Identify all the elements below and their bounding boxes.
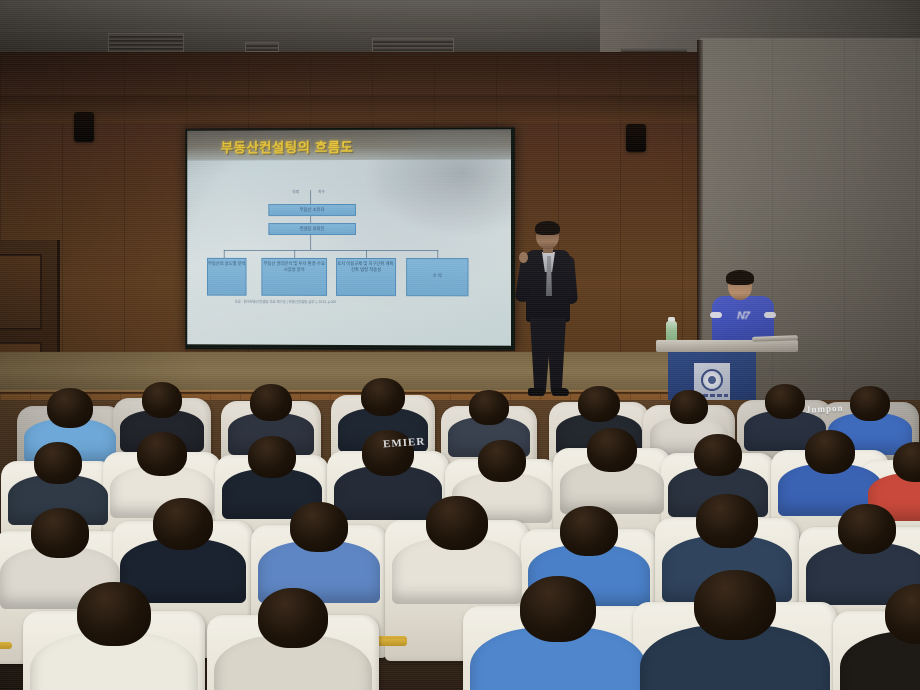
diagram-connector <box>294 250 295 258</box>
audience-member-head <box>153 498 213 550</box>
audience-member-head <box>426 496 488 550</box>
ceiling-panel-seam <box>0 30 920 31</box>
assistant-hair <box>726 270 754 285</box>
audience-member-head <box>694 434 742 476</box>
audience-member-head <box>587 428 637 472</box>
audience-shirt-text-1: Jumpon <box>806 403 844 415</box>
diagram-footnote: 자료 : 한국부동산컨설팅 자료 재구성 ( 부동산컨설팅 실무 ), 2013… <box>235 299 337 304</box>
audience-member-head <box>34 442 82 484</box>
chair-armrest <box>0 642 12 649</box>
audience-member-head <box>478 440 526 482</box>
diagram-bottom-box-1-label: 부동산 권리분석 및 투자 환경·수요 시장성 분석 <box>262 259 326 273</box>
presenter-hair <box>535 221 560 235</box>
audience-member <box>840 584 920 690</box>
audience-member-head <box>694 570 776 640</box>
diagram-top-box-0: 부동산 소유자 <box>268 204 356 216</box>
audience-member <box>214 588 372 690</box>
audience-member-head <box>77 582 151 646</box>
audience-member <box>470 576 646 690</box>
lectern-top-surface <box>656 340 798 352</box>
audience-member-head <box>258 588 328 648</box>
assistant-sleeve-left <box>710 312 722 318</box>
presenter-raised-hand <box>519 252 528 263</box>
audience-member <box>30 582 198 690</box>
audience-seating <box>0 370 920 690</box>
audience-member-head <box>670 390 708 424</box>
wall-trim-band <box>0 95 700 123</box>
audience-member-head <box>893 442 920 482</box>
diagram-bottom-box-2: 토지 이용규제 및 지구단위 계획·건축 법령 적용성 <box>336 258 396 296</box>
wall-speaker-0 <box>74 112 94 142</box>
audience-member-head <box>137 432 187 476</box>
assistant-shirt-graphic: N7 <box>726 308 760 324</box>
chair-armrest <box>375 639 407 646</box>
ceiling-vent-1 <box>245 42 279 52</box>
audience-member-head <box>838 504 896 554</box>
diagram-top-box-1-label: 컨설팅 의뢰인 <box>269 224 355 232</box>
diagram-bottom-box-3-label: 수 익 <box>407 259 467 279</box>
diagram-connector <box>310 235 311 250</box>
projection-screen: 부동산컨설팅의 흐름도 의뢰 착수 부동산 소유자 컨설팅 의뢰인 <box>185 127 515 351</box>
diagram-header-label-0: 의뢰 <box>292 190 299 195</box>
slide-diagram: 의뢰 착수 부동산 소유자 컨설팅 의뢰인 <box>207 190 497 311</box>
audience-member-head <box>142 382 182 418</box>
audience-member-head <box>248 436 296 478</box>
diagram-branch-bus <box>224 250 439 251</box>
diagram-connector <box>366 250 367 258</box>
diagram-header-label-1: 착수 <box>318 190 325 195</box>
audience-member-head <box>469 390 509 425</box>
diagram-top-box-1: 컨설팅 의뢰인 <box>268 223 356 235</box>
diagram-bottom-box-3: 수 익 <box>406 258 468 296</box>
audience-member-head <box>805 430 855 474</box>
audience-member-head <box>765 384 805 419</box>
diagram-bottom-box-2-label: 토지 이용규제 및 지구단위 계획·건축 법령 적용성 <box>337 259 395 273</box>
diagram-bottom-box-1: 부동산 권리분석 및 투자 환경·수요 시장성 분석 <box>261 258 327 296</box>
audience-member-head <box>361 378 405 416</box>
diagram-connector <box>224 250 225 258</box>
audience-member-head <box>578 386 620 422</box>
door-panel-upper <box>0 254 42 330</box>
diagram-bottom-box-0: 부동산의 용도별 분석 <box>207 258 247 296</box>
diagram-connector <box>310 216 311 223</box>
audience-member <box>640 570 830 690</box>
screen-surface: 부동산컨설팅의 흐름도 의뢰 착수 부동산 소유자 컨설팅 의뢰인 <box>187 129 511 345</box>
assistant-sleeve-right <box>764 312 776 318</box>
audience-member-head <box>696 494 758 548</box>
audience-member-head <box>31 508 89 558</box>
wall-speaker-1 <box>626 124 646 152</box>
diagram-top-box-0-label: 부동산 소유자 <box>269 205 355 213</box>
slide-title: 부동산컨설팅의 흐름도 <box>221 136 354 156</box>
audience-member-head <box>290 502 348 552</box>
audience-member-head <box>520 576 596 642</box>
lecture-hall-photo: 부동산컨설팅의 흐름도 의뢰 착수 부동산 소유자 컨설팅 의뢰인 <box>0 0 920 690</box>
audience-member-head <box>250 384 292 421</box>
wall-upper-shadow <box>0 52 700 100</box>
audience-member-head <box>47 388 93 428</box>
diagram-connector <box>437 250 438 258</box>
diagram-bottom-box-0-label: 부동산의 용도별 분석 <box>208 259 246 267</box>
diagram-connector <box>310 190 311 204</box>
audience-member-head <box>850 386 890 421</box>
audience-member-head <box>560 506 618 556</box>
